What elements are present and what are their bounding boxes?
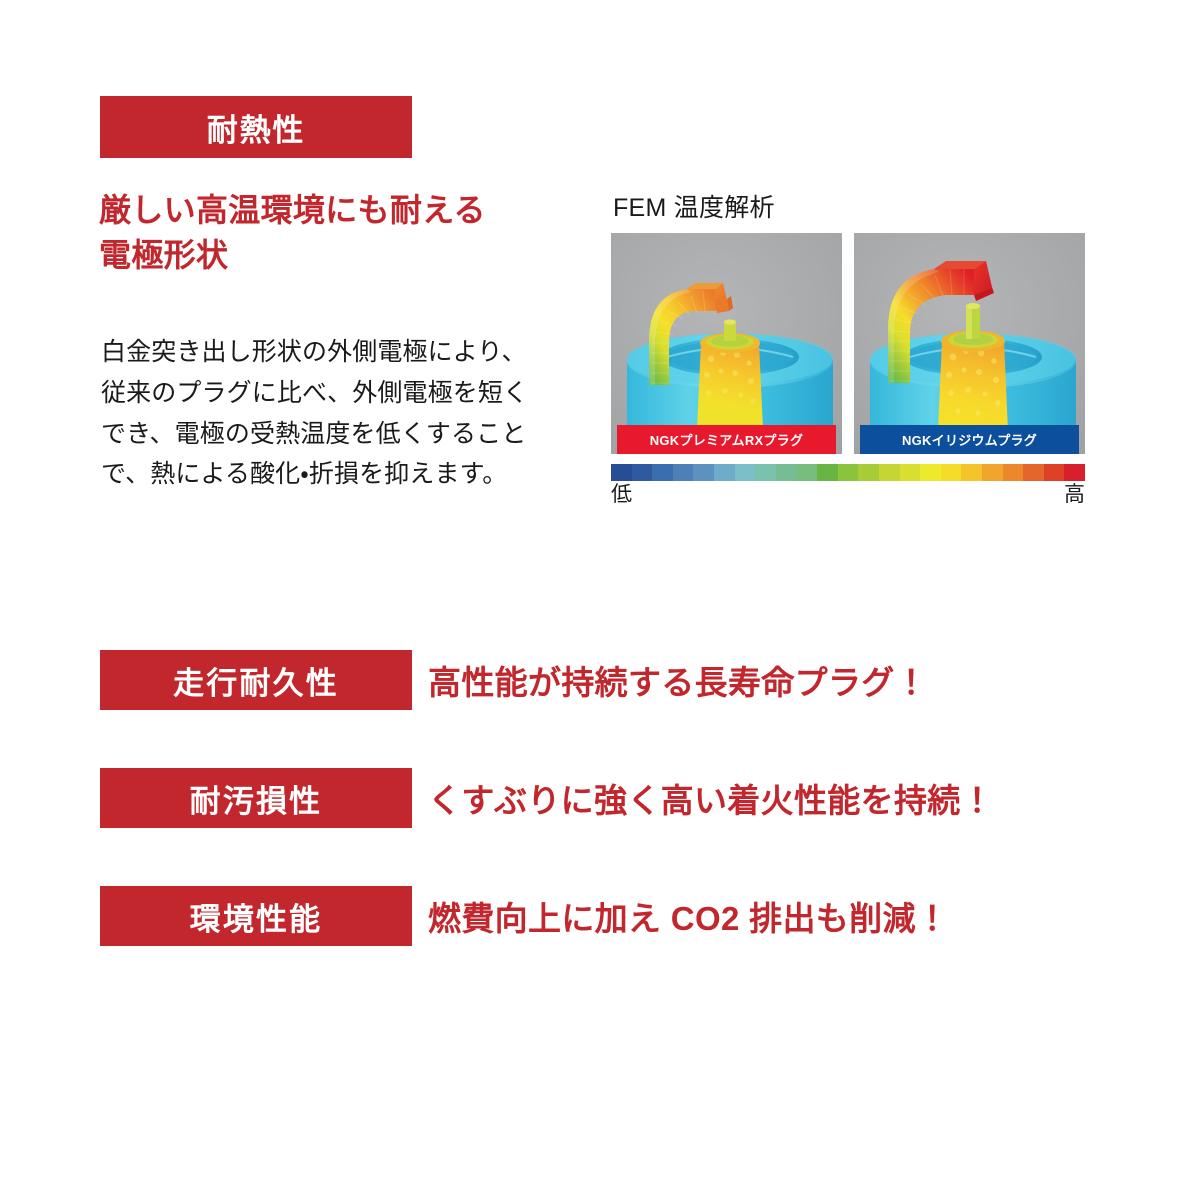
fem-scale-segment-18 — [982, 464, 1003, 481]
section-body-heat-resistance: 白金突き出し形状の外側電極により、 従来のプラグに比べ、外側電極を短く でき、電… — [101, 332, 593, 495]
fem-caption-label: NGKイリジウムプラグ — [902, 430, 1037, 449]
fem-scale-segment-15 — [920, 464, 941, 481]
body-line: でき、電極の受熱温度を低くすること — [101, 414, 593, 455]
feature-description: 燃費向上に加え CO2 排出も削減！ — [428, 886, 949, 946]
fem-panel-premium-rx: NGKプレミアムRXプラグ — [611, 233, 842, 454]
fem-scale-segment-8 — [776, 464, 797, 481]
fem-caption-label: NGKプレミアムRXプラグ — [650, 430, 803, 449]
feature-badge: 耐汚損性 — [100, 768, 412, 828]
fem-scale-segment-4 — [693, 464, 714, 481]
feature-badge-label: 走行耐久性 — [173, 658, 339, 703]
fem-color-scale: 低 高 — [611, 464, 1085, 506]
fem-scale-segment-2 — [652, 464, 673, 481]
fem-panel-iridium: NGKイリジウムプラグ — [854, 233, 1085, 454]
body-line: 従来のプラグに比べ、外側電極を短く — [101, 373, 593, 414]
fem-color-scale-labels: 低 高 — [611, 483, 1085, 506]
body-line: で、熱による酸化・折損を抑えます。 — [101, 454, 593, 495]
body-line: 白金突き出し形状の外側電極により、 — [101, 332, 593, 373]
fem-scale-segment-11 — [838, 464, 859, 481]
feature-description: くすぶりに強く高い着火性能を持続！ — [428, 768, 994, 828]
fem-panel-caption-iridium: NGKイリジウムプラグ — [860, 425, 1079, 454]
fem-scale-segment-6 — [735, 464, 756, 481]
fem-scale-segment-10 — [817, 464, 838, 481]
fem-scale-segment-5 — [714, 464, 735, 481]
fem-scale-segment-9 — [796, 464, 817, 481]
fem-analysis-title: FEM 温度解析 — [613, 196, 1085, 221]
fem-panel-group: NGKプレミアムRXプラグ — [611, 233, 1085, 454]
fem-scale-segment-19 — [1003, 464, 1024, 481]
fem-scale-segment-16 — [941, 464, 962, 481]
fem-scale-segment-14 — [900, 464, 921, 481]
feature-badge: 走行耐久性 — [100, 650, 412, 710]
fem-scale-segment-17 — [961, 464, 982, 481]
section-heading-line-1: 厳しい高温環境にも耐える — [99, 188, 619, 233]
fem-thermal-image-iridium — [854, 233, 1085, 454]
fem-color-scale-bar — [611, 464, 1085, 481]
section-badge-label: 耐熱性 — [207, 105, 306, 150]
fem-scale-segment-3 — [673, 464, 694, 481]
feature-badge-label: 環境性能 — [190, 894, 323, 939]
fem-scale-segment-12 — [858, 464, 879, 481]
section-heading-heat-resistance: 厳しい高温環境にも耐える 電極形状 — [99, 188, 619, 279]
fem-scale-low-label: 低 — [611, 483, 632, 506]
fem-analysis-block: FEM 温度解析 — [611, 196, 1085, 506]
fem-thermal-image-premium-rx — [611, 233, 842, 454]
fem-scale-segment-20 — [1023, 464, 1044, 481]
feature-badge: 環境性能 — [100, 886, 412, 946]
fem-scale-segment-22 — [1064, 464, 1085, 481]
fem-scale-high-label: 高 — [1064, 483, 1085, 506]
fem-scale-segment-13 — [879, 464, 900, 481]
section-badge-heat-resistance: 耐熱性 — [100, 96, 412, 158]
fem-scale-segment-7 — [755, 464, 776, 481]
fem-scale-segment-1 — [632, 464, 653, 481]
fem-scale-segment-21 — [1044, 464, 1065, 481]
fem-scale-segment-0 — [611, 464, 632, 481]
fem-panel-caption-premium-rx: NGKプレミアムRXプラグ — [617, 425, 836, 454]
feature-badge-label: 耐汚損性 — [190, 776, 323, 821]
section-heading-line-2: 電極形状 — [99, 233, 619, 278]
feature-description: 高性能が持続する長寿命プラグ！ — [428, 650, 928, 710]
